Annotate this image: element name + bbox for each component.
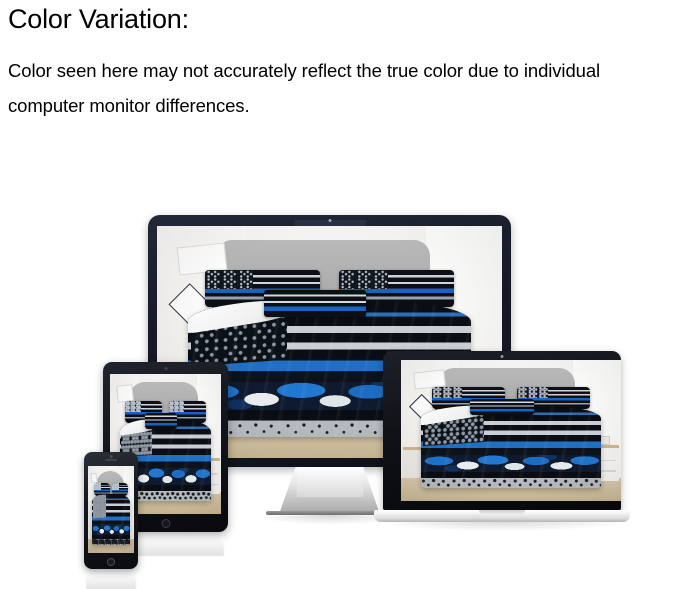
flag-star-field (432, 387, 463, 399)
camouflage-band (92, 525, 130, 535)
accent-pillow (145, 413, 178, 429)
laptop-screen (401, 360, 621, 501)
speckled-border (421, 478, 601, 488)
flag-star-field (112, 483, 118, 490)
camouflage-band (421, 455, 601, 472)
bed (421, 387, 601, 489)
smartphone (84, 452, 138, 569)
laptop-shadow (380, 522, 624, 531)
bedroom-scene (88, 466, 134, 553)
camera-icon (501, 355, 504, 358)
phone-body (84, 452, 138, 569)
page-root: Color Variation: Color seen here may not… (0, 0, 679, 589)
flag-star-field (125, 401, 140, 413)
phone-screen (88, 466, 134, 553)
comforter (421, 405, 601, 488)
device-mockup-group (0, 195, 679, 589)
monitor-stand-highlight (297, 467, 363, 497)
phone-reflection (86, 571, 136, 589)
laptop (374, 351, 630, 536)
page-title: Color Variation: (8, 2, 673, 36)
home-button-icon[interactable] (161, 519, 170, 528)
color-variation-text-block: Color Variation: Color seen here may not… (8, 2, 673, 123)
camera-icon (110, 455, 113, 458)
flag-star-field (94, 483, 100, 490)
laptop-lid (383, 351, 621, 510)
accent-pillow (264, 290, 366, 317)
comforter (92, 494, 130, 545)
bed (92, 483, 130, 546)
flag-star-field (205, 270, 253, 289)
accent-pillow (470, 399, 535, 415)
camera-icon (164, 367, 167, 370)
flag-star-field (339, 270, 387, 289)
flag-star-canton (93, 494, 106, 517)
color-variation-description: Color seen here may not accurately refle… (8, 53, 673, 123)
home-button-icon[interactable] (107, 558, 115, 566)
flag-star-field (169, 401, 184, 413)
earpiece-speaker-icon (105, 459, 117, 461)
flag-star-field (517, 387, 548, 399)
bedroom-scene (401, 360, 621, 501)
camera-icon (328, 219, 331, 222)
laptop-base-notch (479, 510, 525, 514)
speckled-border (92, 539, 130, 545)
